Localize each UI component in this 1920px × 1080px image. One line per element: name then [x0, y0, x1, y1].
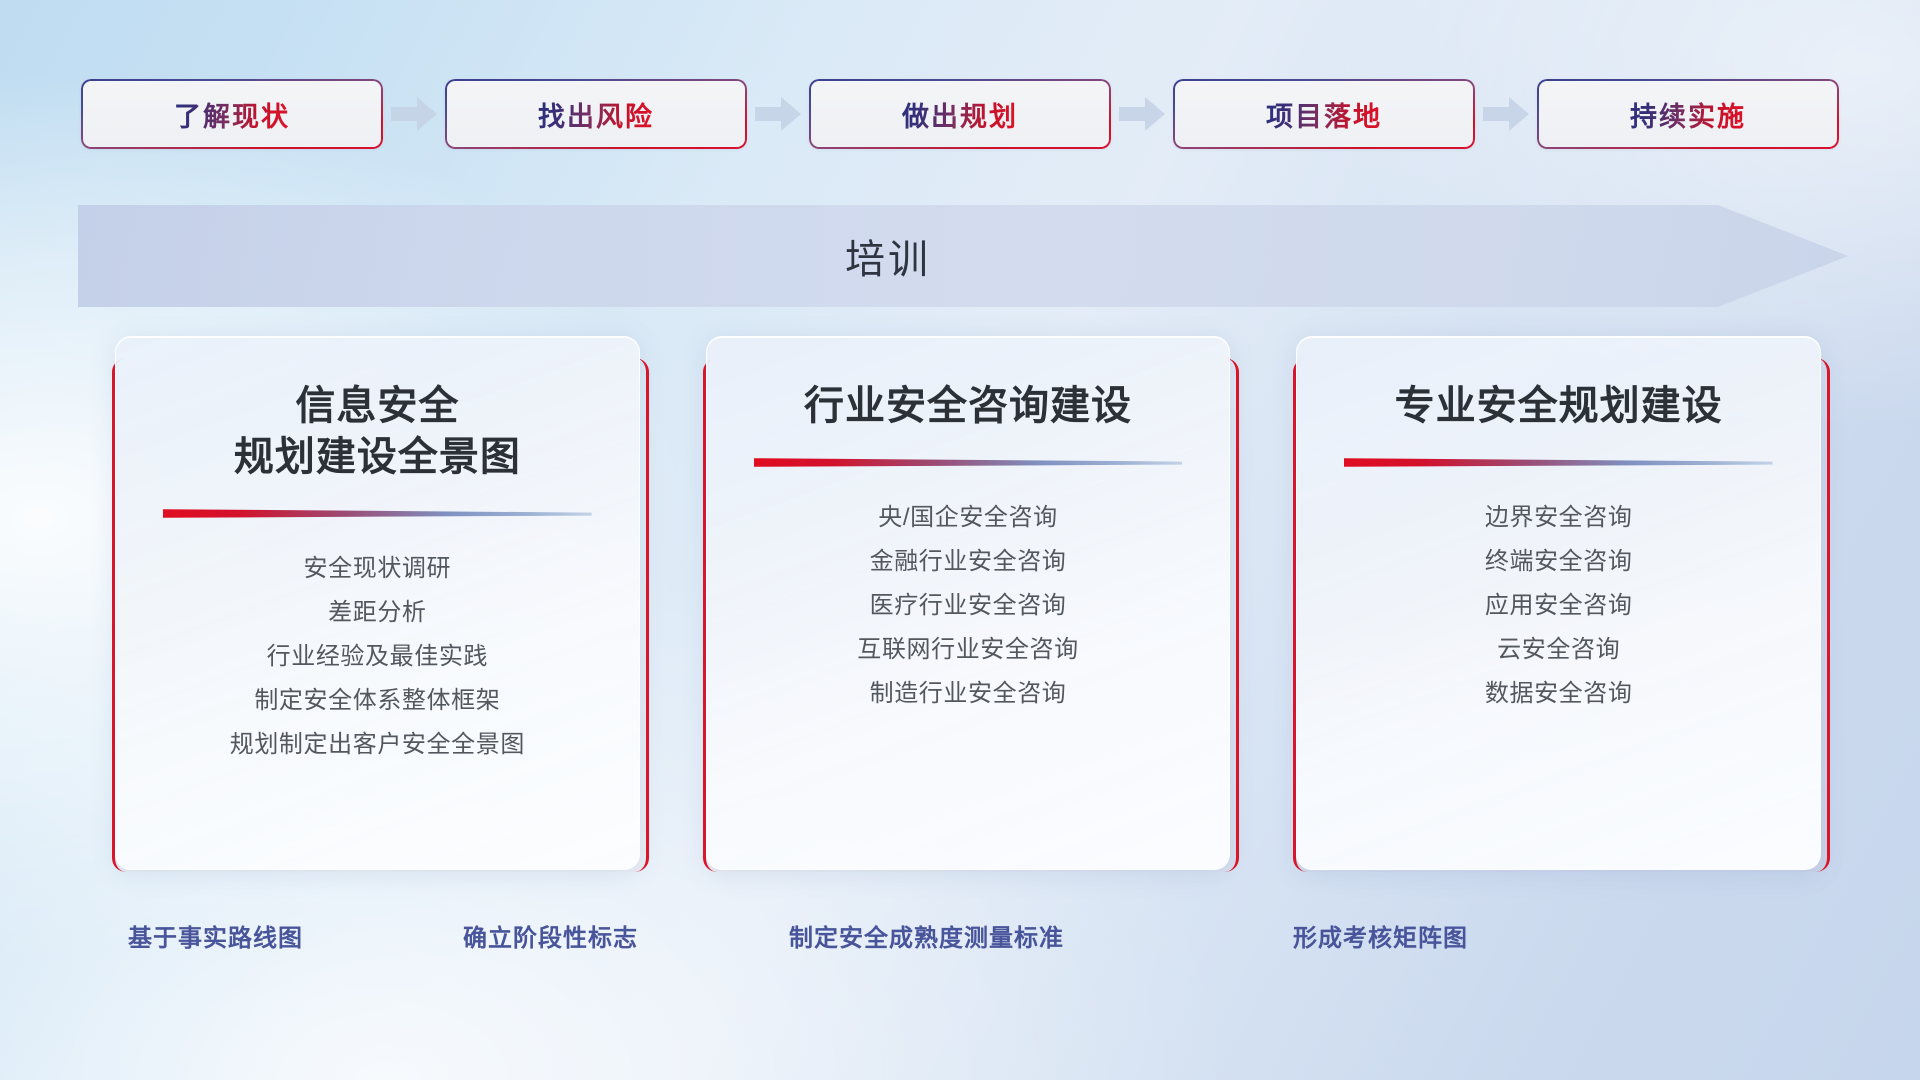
tapered-gradient-rule-icon: [163, 505, 592, 521]
right-block-arrow-icon: [755, 97, 801, 131]
outcome-captions: 基于事实路线图 确立阶段性标志 制定安全成熟度测量标准 形成考核矩阵图: [0, 918, 1920, 962]
outcome-caption-4: 形成考核矩阵图: [1293, 918, 1468, 953]
outcome-caption-1: 基于事实路线图: [128, 918, 303, 953]
process-step-5-label: 持续实施: [1630, 95, 1746, 134]
list-item: 差距分析: [116, 591, 639, 635]
capability-card-1[interactable]: 信息安全 规划建设全景图: [115, 336, 640, 870]
capability-card-3-title: 专业安全规划建设: [1395, 381, 1723, 432]
process-step-2-label: 找出风险: [538, 95, 654, 134]
capability-card-2-divider: [754, 454, 1183, 470]
capability-card-1-divider: [163, 505, 592, 521]
list-item: 互联网行业安全咨询: [707, 628, 1230, 672]
process-step-3[interactable]: 做出规划: [809, 79, 1111, 149]
right-block-arrow-icon: [391, 97, 437, 131]
process-step-1[interactable]: 了解现状: [81, 79, 383, 149]
process-step-5[interactable]: 持续实施: [1537, 79, 1839, 149]
process-arrow-1: [383, 93, 445, 135]
right-block-arrow-icon: [1119, 97, 1165, 131]
list-item: 制定安全体系整体框架: [116, 679, 639, 723]
process-step-4[interactable]: 项目落地: [1173, 79, 1475, 149]
capability-card-3-frame: 专业安全规划建设: [1293, 336, 1824, 872]
process-arrow-2: [747, 93, 809, 135]
capability-card-3-list: 边界安全咨询 终端安全咨询 应用安全咨询 云安全咨询 数据安全咨询: [1297, 496, 1820, 716]
tapered-gradient-rule-icon: [754, 454, 1183, 470]
capability-card-3[interactable]: 专业安全规划建设: [1296, 336, 1821, 870]
capability-card-1-frame: 信息安全 规划建设全景图: [112, 336, 643, 872]
capability-cards: 信息安全 规划建设全景图: [112, 336, 1824, 872]
capability-card-2-frame: 行业安全咨询建设: [703, 336, 1234, 872]
capability-card-3-divider: [1344, 454, 1773, 470]
process-step-4-label: 项目落地: [1266, 95, 1382, 134]
list-item: 行业经验及最佳实践: [116, 635, 639, 679]
list-item: 医疗行业安全咨询: [707, 584, 1230, 628]
capability-card-2[interactable]: 行业安全咨询建设: [706, 336, 1231, 870]
outcome-caption-3: 制定安全成熟度测量标准: [789, 918, 1064, 953]
training-band: 培训: [78, 205, 1848, 307]
capability-card-2-list: 央/国企安全咨询 金融行业安全咨询 医疗行业安全咨询 互联网行业安全咨询 制造行…: [707, 496, 1230, 716]
list-item: 制造行业安全咨询: [707, 672, 1230, 716]
process-arrow-4: [1475, 93, 1537, 135]
capability-card-1-list: 安全现状调研 差距分析 行业经验及最佳实践 制定安全体系整体框架 规划制定出客户…: [116, 547, 639, 767]
list-item: 终端安全咨询: [1297, 540, 1820, 584]
right-block-arrow-icon: [1483, 97, 1529, 131]
capability-card-1-title: 信息安全 规划建设全景图: [234, 381, 521, 483]
process-step-2[interactable]: 找出风险: [445, 79, 747, 149]
list-item: 云安全咨询: [1297, 628, 1820, 672]
list-item: 边界安全咨询: [1297, 496, 1820, 540]
list-item: 数据安全咨询: [1297, 672, 1820, 716]
list-item: 规划制定出客户安全全景图: [116, 723, 639, 767]
process-steps: 了解现状 找出风险 做出规划 项目落地 持续实施: [0, 78, 1920, 150]
process-arrow-3: [1111, 93, 1173, 135]
tapered-gradient-rule-icon: [1344, 454, 1773, 470]
process-step-3-label: 做出规划: [902, 95, 1018, 134]
outcome-caption-2: 确立阶段性标志: [463, 918, 638, 953]
list-item: 安全现状调研: [116, 547, 639, 591]
training-band-label: 培训: [78, 205, 1698, 307]
process-step-1-label: 了解现状: [174, 95, 290, 134]
capability-card-2-title: 行业安全咨询建设: [804, 381, 1132, 432]
list-item: 央/国企安全咨询: [707, 496, 1230, 540]
list-item: 应用安全咨询: [1297, 584, 1820, 628]
list-item: 金融行业安全咨询: [707, 540, 1230, 584]
